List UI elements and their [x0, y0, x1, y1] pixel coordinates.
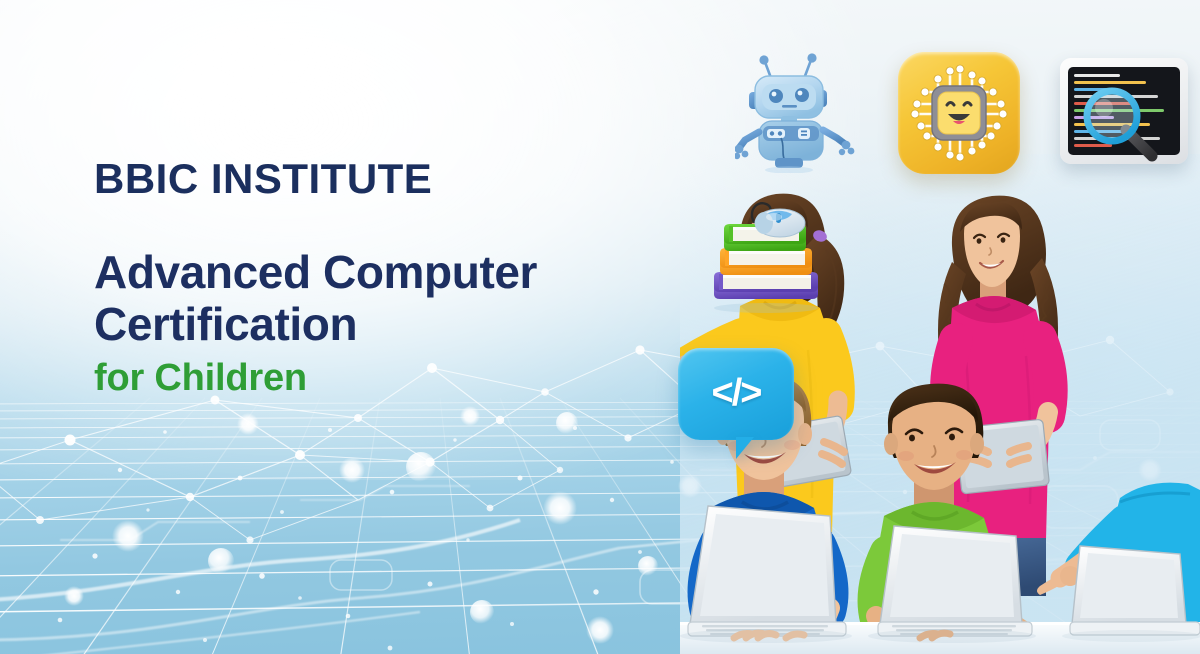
chip-card-background: [898, 52, 1020, 174]
bokeh-dot: [556, 412, 578, 434]
bokeh-dot: [470, 600, 494, 624]
code-glyph: </>: [712, 372, 761, 415]
bokeh-dot: [638, 556, 658, 576]
cpu-chip-icon: [898, 52, 1020, 174]
headline-line-2: Certification: [94, 298, 654, 350]
books-mouse-icon: [700, 198, 832, 313]
page-title: Advanced Computer Certification: [94, 246, 654, 351]
code-bubble-icon: </>: [678, 348, 794, 462]
chip-svg: [898, 52, 1020, 174]
bokeh-dot: [208, 548, 234, 574]
laptop-green-boy: [878, 526, 1032, 638]
magnifier-icon: [1060, 58, 1188, 164]
promo-banner: BBIC INSTITUTE Advanced Computer Certifi…: [0, 0, 1200, 654]
speech-bubble-body: </>: [678, 348, 794, 440]
headline-subline: for Children: [94, 357, 654, 400]
headline-line-1: Advanced Computer: [94, 246, 654, 298]
robot-icon: [735, 48, 855, 173]
institute-name: BBIC INSTITUTE: [94, 158, 654, 200]
bokeh-dot: [406, 452, 436, 482]
robot-svg: [735, 48, 855, 173]
books-svg: [700, 198, 832, 313]
laptop-blue-boy: [688, 506, 846, 638]
code-search-icon: [1060, 58, 1188, 164]
speech-bubble-tail: [736, 437, 754, 459]
banner-copy: BBIC INSTITUTE Advanced Computer Certifi…: [94, 158, 654, 399]
laptop-cyan-child: [1070, 546, 1200, 635]
